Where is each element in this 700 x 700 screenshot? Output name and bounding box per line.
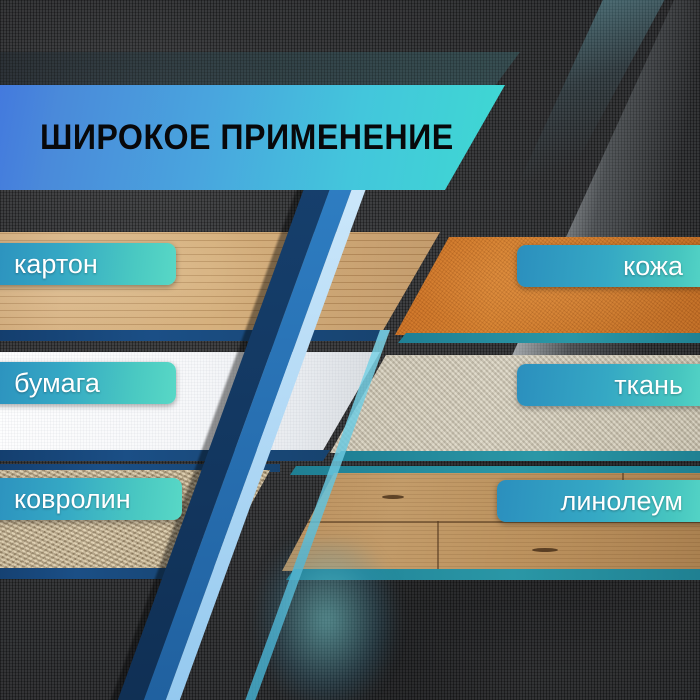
cardboard-edge-strip	[0, 330, 390, 341]
label-text-fabric: ткань	[614, 370, 683, 401]
page-title: ШИРОКОЕ ПРИМЕНЕНИЕ	[40, 118, 454, 158]
label-text-paper: бумага	[14, 368, 100, 399]
fabric-edge-strip	[333, 451, 700, 461]
label-pill-tkan[interactable]: ткань	[517, 364, 700, 406]
wood-knot	[532, 548, 558, 552]
leather-edge-strip	[398, 333, 700, 343]
plank-seam	[437, 521, 439, 571]
label-text-carpet: ковролин	[14, 484, 131, 515]
label-text-leather: кожа	[623, 251, 683, 282]
label-text-cardboard: картон	[14, 249, 98, 280]
paper-edge-strip	[0, 450, 330, 461]
title-banner: ШИРОКОЕ ПРИМЕНЕНИЕ	[0, 85, 505, 190]
label-pill-kozha[interactable]: кожа	[517, 245, 700, 287]
promo-graphic: ШИРОКОЕ ПРИМЕНЕНИЕ картон бумага ковроли…	[0, 0, 700, 700]
label-pill-kovrolin[interactable]: ковролин	[0, 478, 182, 520]
bottom-glow	[232, 540, 422, 700]
wood-knot	[382, 495, 404, 499]
label-pill-kartón[interactable]: картон	[0, 243, 176, 285]
label-pill-linoleum[interactable]: линолеум	[497, 480, 700, 522]
label-pill-bumaga[interactable]: бумага	[0, 362, 176, 404]
label-text-linoleum: линолеум	[561, 486, 683, 517]
